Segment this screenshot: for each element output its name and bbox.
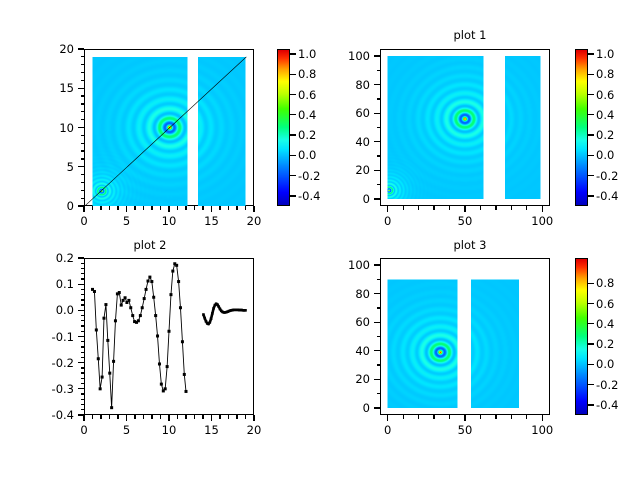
data-point-marker bbox=[141, 306, 144, 309]
data-point-marker bbox=[154, 314, 157, 317]
x-tick-label: 15 bbox=[204, 214, 219, 228]
tick-mark bbox=[211, 415, 212, 421]
tick-mark bbox=[290, 155, 296, 156]
y-tick-label: 60 bbox=[338, 315, 370, 329]
x-tick-label: 20 bbox=[247, 214, 262, 228]
tick-mark bbox=[219, 415, 220, 419]
data-point-marker bbox=[202, 313, 205, 316]
colorbar-tick-label: 0.8 bbox=[596, 276, 630, 290]
tick-mark bbox=[377, 98, 381, 99]
tick-mark bbox=[78, 336, 84, 337]
tick-mark bbox=[81, 111, 85, 112]
data-point-marker bbox=[217, 305, 220, 308]
tick-mark bbox=[290, 175, 296, 176]
figure-canvas: 0510152005101520 -0.4-0.20.00.20.40.60.8… bbox=[0, 0, 640, 480]
data-point-marker bbox=[95, 328, 98, 331]
tick-mark bbox=[81, 393, 85, 394]
tick-mark bbox=[81, 331, 85, 332]
tick-mark bbox=[236, 206, 237, 210]
tick-mark bbox=[377, 393, 381, 394]
y-tick-label: 60 bbox=[338, 106, 370, 120]
data-point-marker bbox=[139, 314, 142, 317]
x-tick-label: 10 bbox=[162, 423, 177, 437]
tick-mark bbox=[134, 415, 135, 419]
tick-mark bbox=[588, 155, 594, 156]
tick-mark bbox=[387, 415, 388, 421]
colorbar-bottom-right bbox=[575, 258, 588, 415]
tick-mark bbox=[160, 415, 161, 419]
tick-mark bbox=[245, 206, 246, 210]
tick-mark bbox=[219, 206, 220, 210]
colorbar-tick-label: 0.0 bbox=[596, 357, 630, 371]
plot-panel-top-right: plot 1 020406080100050100 -0.4-0.20.00.2… bbox=[320, 0, 640, 240]
tick-mark bbox=[78, 284, 84, 285]
tick-mark bbox=[109, 206, 110, 210]
x-tick-label: 0 bbox=[80, 423, 87, 437]
tick-mark bbox=[100, 415, 101, 419]
tick-mark bbox=[81, 135, 85, 136]
tick-mark bbox=[81, 143, 85, 144]
tick-mark bbox=[542, 415, 543, 421]
tick-mark bbox=[464, 415, 465, 421]
tick-mark bbox=[374, 55, 380, 56]
colorbar-gradient-top-left bbox=[278, 50, 289, 205]
tick-mark bbox=[588, 53, 594, 54]
tick-mark bbox=[403, 415, 404, 419]
tick-mark bbox=[202, 206, 203, 210]
colorbar-tick-label: -0.4 bbox=[596, 189, 630, 203]
data-point-marker bbox=[168, 330, 171, 333]
x-tick-label: 50 bbox=[458, 214, 473, 228]
tick-mark bbox=[290, 94, 296, 95]
tick-mark bbox=[588, 94, 594, 95]
colorbar-gradient-bottom-right bbox=[576, 259, 587, 414]
data-point-marker bbox=[110, 406, 113, 409]
colorbar-tick-label: -0.2 bbox=[596, 169, 630, 183]
data-point-marker bbox=[150, 280, 153, 283]
tick-mark bbox=[588, 175, 594, 176]
data-point-marker bbox=[147, 280, 150, 283]
y-tick-label: 40 bbox=[338, 135, 370, 149]
tick-mark bbox=[588, 364, 594, 365]
tick-mark bbox=[81, 383, 85, 384]
y-tick-label: 10 bbox=[42, 121, 74, 135]
data-point-marker bbox=[164, 387, 167, 390]
y-tick-label: -0.4 bbox=[42, 408, 74, 422]
tick-mark bbox=[81, 304, 85, 305]
tick-mark bbox=[117, 206, 118, 210]
tick-mark bbox=[81, 278, 85, 279]
data-point-marker bbox=[181, 340, 184, 343]
data-point-marker bbox=[143, 297, 146, 300]
data-point-marker bbox=[129, 306, 132, 309]
tick-mark bbox=[81, 95, 85, 96]
tick-mark bbox=[526, 415, 527, 419]
tick-mark bbox=[480, 206, 481, 210]
tick-mark bbox=[588, 303, 594, 304]
x-tick-label: 5 bbox=[123, 214, 130, 228]
data-point-marker bbox=[160, 383, 163, 386]
tick-mark bbox=[78, 48, 84, 49]
y-tick-label: 80 bbox=[338, 287, 370, 301]
tick-mark bbox=[81, 325, 85, 326]
y-tick-label: 5 bbox=[42, 160, 74, 174]
tick-mark bbox=[253, 415, 254, 421]
data-point-marker bbox=[169, 293, 172, 296]
tick-mark bbox=[81, 64, 85, 65]
x-tick-label: 20 bbox=[247, 423, 262, 437]
plot-title-1: plot 1 bbox=[360, 28, 580, 42]
data-point-marker bbox=[148, 276, 151, 279]
x-tick-label: 0 bbox=[80, 214, 87, 228]
tick-mark bbox=[588, 195, 594, 196]
tick-mark bbox=[83, 206, 84, 212]
tick-mark bbox=[81, 56, 85, 57]
tick-mark bbox=[433, 415, 434, 419]
tick-mark bbox=[374, 322, 380, 323]
tick-mark bbox=[81, 294, 85, 295]
tick-mark bbox=[81, 268, 85, 269]
tick-mark bbox=[81, 352, 85, 353]
data-point-marker bbox=[145, 288, 148, 291]
x-tick-label: 10 bbox=[162, 214, 177, 228]
data-point-marker bbox=[102, 317, 105, 320]
tick-mark bbox=[81, 174, 85, 175]
tick-mark bbox=[81, 273, 85, 274]
tick-mark bbox=[377, 184, 381, 185]
data-point-marker bbox=[124, 296, 127, 299]
y-tick-label: 0.2 bbox=[42, 251, 74, 265]
tick-mark bbox=[290, 195, 296, 196]
data-point-marker bbox=[166, 365, 169, 368]
tick-mark bbox=[81, 409, 85, 410]
y-tick-label: -0.1 bbox=[42, 330, 74, 344]
x-tick-label: 0 bbox=[384, 423, 391, 437]
tick-mark bbox=[449, 415, 450, 419]
tick-mark bbox=[374, 170, 380, 171]
tick-mark bbox=[81, 346, 85, 347]
line-path bbox=[203, 304, 245, 324]
tick-mark bbox=[387, 206, 388, 212]
tick-mark bbox=[374, 264, 380, 265]
tick-mark bbox=[109, 415, 110, 419]
x-tick-label: 100 bbox=[531, 214, 553, 228]
tick-mark bbox=[495, 206, 496, 210]
tick-mark bbox=[290, 74, 296, 75]
data-point-marker bbox=[171, 270, 174, 273]
y-tick-label: 20 bbox=[338, 163, 370, 177]
tick-mark bbox=[168, 206, 169, 212]
colorbar-tick-label: 0.4 bbox=[596, 108, 630, 122]
y-tick-label: -0.2 bbox=[42, 356, 74, 370]
data-point-marker bbox=[112, 360, 115, 363]
data-point-marker bbox=[210, 317, 213, 320]
tick-mark bbox=[588, 323, 594, 324]
y-tick-label: 20 bbox=[42, 42, 74, 56]
tick-mark bbox=[374, 113, 380, 114]
tick-mark bbox=[143, 415, 144, 419]
data-point-marker bbox=[99, 387, 102, 390]
tick-mark bbox=[377, 336, 381, 337]
tick-mark bbox=[81, 299, 85, 300]
data-point-marker bbox=[108, 372, 111, 375]
y-tick-label: 0.0 bbox=[42, 303, 74, 317]
x-tick-label: 50 bbox=[458, 423, 473, 437]
tick-mark bbox=[588, 74, 594, 75]
tick-mark bbox=[377, 155, 381, 156]
tick-mark bbox=[588, 343, 594, 344]
tick-mark bbox=[81, 198, 85, 199]
tick-mark bbox=[374, 198, 380, 199]
y-tick-label: 100 bbox=[338, 258, 370, 272]
colorbar-tick-label: 0.8 bbox=[596, 67, 630, 81]
tick-mark bbox=[194, 415, 195, 419]
tick-mark bbox=[526, 206, 527, 210]
tick-mark bbox=[185, 206, 186, 210]
colorbar-tick-label: 0.6 bbox=[596, 88, 630, 102]
tick-mark bbox=[78, 166, 84, 167]
tick-mark bbox=[81, 150, 85, 151]
tick-mark bbox=[143, 206, 144, 210]
y-tick-label: 0.1 bbox=[42, 277, 74, 291]
tick-mark bbox=[194, 206, 195, 210]
tick-mark bbox=[290, 114, 296, 115]
diagonal-reference-line bbox=[86, 57, 247, 205]
tick-mark bbox=[290, 53, 296, 54]
tick-mark bbox=[511, 206, 512, 210]
plot-panel-top-left: 0510152005101520 -0.4-0.20.00.20.40.60.8… bbox=[0, 0, 320, 240]
tick-mark bbox=[202, 415, 203, 419]
data-point-marker bbox=[158, 362, 161, 365]
tick-mark bbox=[81, 357, 85, 358]
data-point-marker bbox=[209, 321, 212, 324]
tick-mark bbox=[290, 134, 296, 135]
tick-mark bbox=[78, 388, 84, 389]
data-point-marker bbox=[177, 280, 180, 283]
tick-mark bbox=[117, 415, 118, 419]
line-path bbox=[93, 264, 187, 408]
tick-mark bbox=[81, 72, 85, 73]
data-point-marker bbox=[131, 314, 134, 317]
tick-mark bbox=[81, 341, 85, 342]
tick-mark bbox=[81, 80, 85, 81]
tick-mark bbox=[495, 415, 496, 419]
tick-mark bbox=[78, 88, 84, 89]
tick-mark bbox=[542, 206, 543, 212]
tick-mark bbox=[126, 206, 127, 212]
colorbar-gradient-top-right bbox=[576, 50, 587, 205]
data-point-marker bbox=[212, 307, 215, 310]
tick-mark bbox=[377, 307, 381, 308]
tick-mark bbox=[81, 320, 85, 321]
data-point-marker bbox=[104, 303, 107, 306]
data-point-marker bbox=[183, 373, 186, 376]
y-tick-label: 0 bbox=[338, 401, 370, 415]
plot-title-3: plot 3 bbox=[360, 238, 580, 252]
data-point-marker bbox=[244, 309, 247, 312]
tick-mark bbox=[126, 415, 127, 421]
data-point-marker bbox=[101, 376, 104, 379]
data-point-marker bbox=[152, 296, 155, 299]
tick-mark bbox=[433, 206, 434, 210]
tick-mark bbox=[81, 404, 85, 405]
x-tick-label: 5 bbox=[123, 423, 130, 437]
tick-mark bbox=[588, 283, 594, 284]
tick-mark bbox=[377, 127, 381, 128]
tick-mark bbox=[253, 206, 254, 212]
tick-mark bbox=[81, 158, 85, 159]
data-point-marker bbox=[127, 299, 130, 302]
tick-mark bbox=[374, 407, 380, 408]
data-point-marker bbox=[118, 291, 121, 294]
tick-mark bbox=[377, 364, 381, 365]
tick-mark bbox=[418, 415, 419, 419]
tick-mark bbox=[92, 415, 93, 419]
y-tick-label: 0 bbox=[42, 199, 74, 213]
heatmap-image-top-right bbox=[380, 49, 550, 206]
tick-mark bbox=[177, 415, 178, 419]
data-point-marker bbox=[106, 339, 109, 342]
colorbar-top-left bbox=[277, 49, 290, 206]
colorbar-tick-label: 0.2 bbox=[596, 128, 630, 142]
data-point-marker bbox=[122, 299, 125, 302]
colorbar-top-right bbox=[575, 49, 588, 206]
tick-mark bbox=[81, 315, 85, 316]
tick-mark bbox=[78, 257, 84, 258]
tick-mark bbox=[480, 415, 481, 419]
tick-mark bbox=[92, 206, 93, 210]
tick-mark bbox=[78, 310, 84, 311]
data-point-marker bbox=[185, 390, 188, 393]
x-tick-label: 0 bbox=[384, 214, 391, 228]
data-point-marker bbox=[114, 319, 117, 322]
tick-mark bbox=[374, 379, 380, 380]
tick-mark bbox=[377, 70, 381, 71]
tick-mark bbox=[236, 415, 237, 419]
tick-mark bbox=[588, 404, 594, 405]
colorbar-tick-label: 0.4 bbox=[596, 317, 630, 331]
tick-mark bbox=[228, 206, 229, 210]
tick-mark bbox=[81, 103, 85, 104]
y-tick-label: 0 bbox=[338, 192, 370, 206]
tick-mark bbox=[81, 190, 85, 191]
tick-mark bbox=[78, 362, 84, 363]
y-tick-label: 100 bbox=[338, 49, 370, 63]
y-tick-label: -0.3 bbox=[42, 382, 74, 396]
tick-mark bbox=[81, 119, 85, 120]
tick-mark bbox=[374, 350, 380, 351]
data-point-marker bbox=[179, 306, 182, 309]
tick-mark bbox=[83, 415, 84, 421]
colorbar-tick-label: 0.6 bbox=[596, 297, 630, 311]
tick-mark bbox=[168, 415, 169, 421]
data-point-marker bbox=[175, 264, 178, 267]
data-point-marker bbox=[120, 304, 123, 307]
tick-mark bbox=[78, 127, 84, 128]
x-tick-label: 100 bbox=[531, 423, 553, 437]
tick-mark bbox=[81, 378, 85, 379]
tick-mark bbox=[464, 206, 465, 212]
tick-mark bbox=[81, 289, 85, 290]
tick-mark bbox=[228, 415, 229, 419]
tick-mark bbox=[177, 206, 178, 210]
tick-mark bbox=[511, 415, 512, 419]
tick-mark bbox=[418, 206, 419, 210]
tick-mark bbox=[81, 263, 85, 264]
tick-mark bbox=[160, 206, 161, 210]
colorbar-tick-label: 0.0 bbox=[596, 148, 630, 162]
tick-mark bbox=[81, 182, 85, 183]
y-tick-label: 40 bbox=[338, 344, 370, 358]
tick-mark bbox=[151, 415, 152, 419]
tick-mark bbox=[81, 399, 85, 400]
plot-panel-bottom-left: plot 2 -0.4-0.3-0.2-0.10.00.10.205101520 bbox=[0, 240, 320, 480]
tick-mark bbox=[100, 206, 101, 210]
x-tick-label: 15 bbox=[204, 423, 219, 437]
tick-mark bbox=[374, 293, 380, 294]
y-tick-label: 80 bbox=[338, 78, 370, 92]
y-tick-label: 15 bbox=[42, 81, 74, 95]
tick-mark bbox=[377, 279, 381, 280]
colorbar-tick-label: -0.2 bbox=[596, 378, 630, 392]
colorbar-tick-label: -0.4 bbox=[596, 398, 630, 412]
data-point-marker bbox=[137, 319, 140, 322]
tick-mark bbox=[449, 206, 450, 210]
tick-mark bbox=[588, 384, 594, 385]
y-tick-label: 20 bbox=[338, 372, 370, 386]
tick-mark bbox=[81, 372, 85, 373]
tick-mark bbox=[588, 134, 594, 135]
tick-mark bbox=[134, 206, 135, 210]
plot-panel-bottom-right: plot 3 020406080100050100 -0.4-0.20.00.2… bbox=[320, 240, 640, 480]
tick-mark bbox=[374, 141, 380, 142]
colorbar-tick-label: 1.0 bbox=[596, 47, 630, 61]
tick-mark bbox=[151, 206, 152, 210]
tick-mark bbox=[185, 415, 186, 419]
tick-mark bbox=[588, 114, 594, 115]
tick-mark bbox=[245, 415, 246, 419]
data-point-marker bbox=[211, 312, 214, 315]
colorbar-tick-label: 0.2 bbox=[596, 337, 630, 351]
heatmap-image-bottom-right bbox=[380, 258, 550, 415]
data-point-marker bbox=[93, 290, 96, 293]
data-point-marker bbox=[203, 317, 206, 320]
tick-mark bbox=[374, 84, 380, 85]
data-point-marker bbox=[156, 334, 159, 337]
data-point-marker bbox=[97, 357, 100, 360]
tick-mark bbox=[81, 367, 85, 368]
tick-mark bbox=[211, 206, 212, 212]
tick-mark bbox=[403, 206, 404, 210]
